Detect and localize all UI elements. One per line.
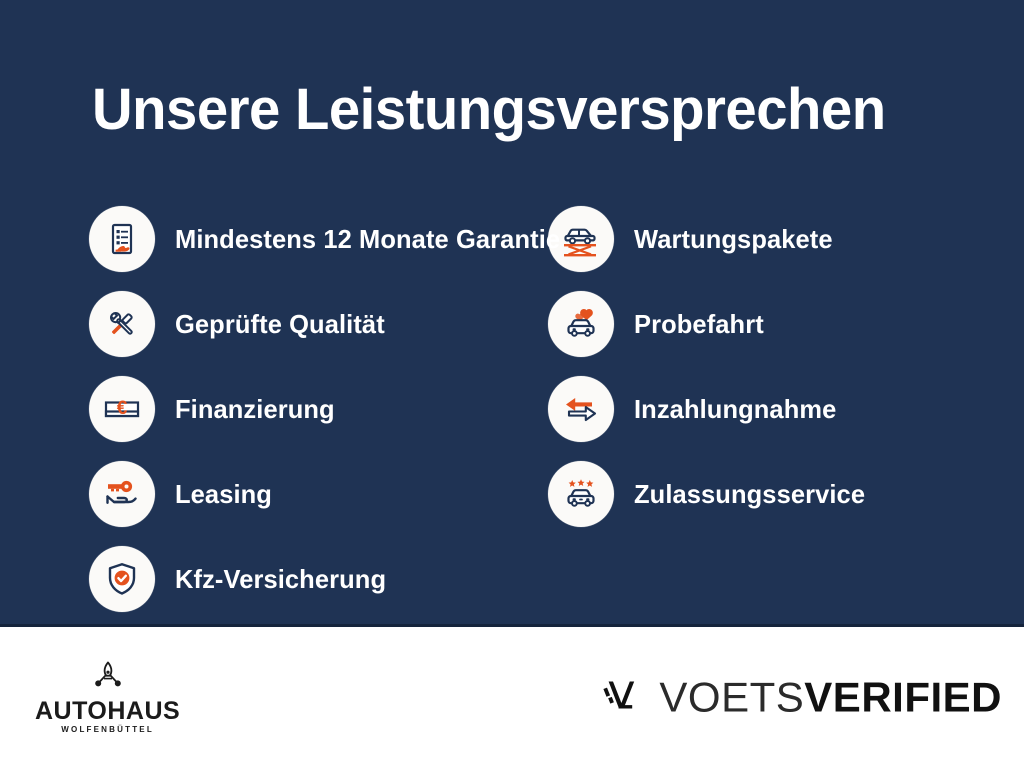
feature-label: Zulassungsservice: [634, 479, 865, 509]
feature-label: Wartungspakete: [634, 224, 833, 254]
autohaus-logo-subtitle: WOLFENBÜTTEL: [61, 724, 154, 736]
voets-verified-wordmark: VOETSVERIFIED: [659, 676, 1002, 720]
feature-item-garantie[interactable]: Mindestens 12 Monate Garantie: [89, 196, 524, 281]
voets-v-mark-icon: [599, 675, 643, 720]
hero-section: Unsere Leistungsversprechen: [0, 0, 1024, 627]
exchange-arrows-icon: [548, 376, 614, 442]
feature-item-leasing[interactable]: Leasing: [89, 451, 524, 536]
features-column-right: Wartungspakete: [524, 196, 1024, 621]
footer-bar: AUTOHAUS WOLFENBÜTTEL VOETSVERIFIED: [0, 627, 1024, 768]
page-title: Unsere Leistungsversprechen: [92, 78, 886, 142]
autohaus-logo[interactable]: AUTOHAUS WOLFENBÜTTEL: [35, 660, 180, 736]
feature-label: Leasing: [175, 479, 272, 509]
svg-text:€: €: [117, 398, 128, 419]
feature-item-finanzierung[interactable]: € Finanzierung: [89, 366, 524, 451]
feature-item-qualitaet[interactable]: Geprüfte Qualität: [89, 281, 524, 366]
feature-label: Probefahrt: [634, 309, 764, 339]
wrench-screwdriver-icon: [89, 291, 155, 357]
features-column-left: Mindestens 12 Monate Garantie: [0, 196, 524, 621]
feature-item-zulassungsservice[interactable]: Zulassungsservice: [548, 451, 1024, 536]
banknote-euro-icon: €: [89, 376, 155, 442]
verified-word: VERIFIED: [804, 674, 1002, 721]
hand-key-icon: [89, 461, 155, 527]
feature-item-probefahrt[interactable]: Probefahrt: [548, 281, 1024, 366]
feature-label: Finanzierung: [175, 394, 335, 424]
feature-item-wartungspakete[interactable]: Wartungspakete: [548, 196, 1024, 281]
feature-item-inzahlungnahme[interactable]: Inzahlungnahme: [548, 366, 1024, 451]
promo-poster: Unsere Leistungsversprechen: [0, 0, 1024, 768]
document-signature-icon: [89, 206, 155, 272]
voets-word: VOETS: [659, 674, 804, 721]
shield-check-icon: [89, 546, 155, 612]
feature-item-versicherung[interactable]: Kfz-Versicherung: [89, 536, 524, 621]
feature-label: Inzahlungnahme: [634, 394, 836, 424]
feature-label: Geprüfte Qualität: [175, 309, 385, 339]
autohaus-logo-name: AUTOHAUS: [35, 698, 180, 724]
car-stars-icon: [548, 461, 614, 527]
voets-verified-logo[interactable]: VOETSVERIFIED: [599, 675, 1002, 720]
feature-label: Mindestens 12 Monate Garantie: [175, 224, 560, 254]
features-grid: Mindestens 12 Monate Garantie: [0, 196, 1024, 621]
car-hearts-icon: [548, 291, 614, 357]
autohaus-emblem-icon: [91, 660, 125, 695]
feature-label: Kfz-Versicherung: [175, 564, 386, 594]
